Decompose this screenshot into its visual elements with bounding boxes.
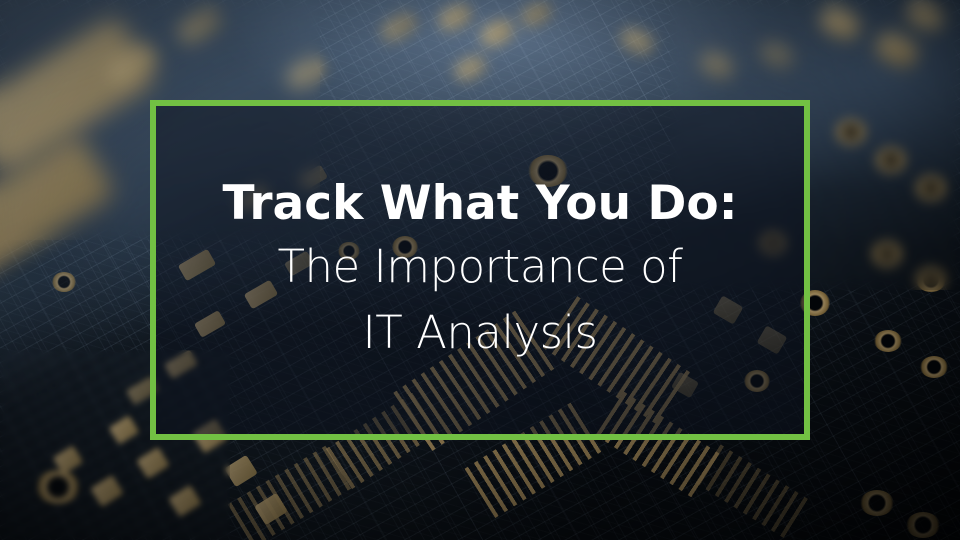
green-accent-frame: Track What You Do: The Importance of IT … [150, 100, 810, 440]
title-line-1: Track What You Do: [170, 175, 790, 232]
title-block: Track What You Do: The Importance of IT … [156, 175, 804, 365]
title-card-canvas: Track What You Do: The Importance of IT … [0, 0, 960, 540]
title-line-2: The Importance of [170, 234, 790, 299]
title-line-3: IT Analysis [170, 300, 790, 365]
